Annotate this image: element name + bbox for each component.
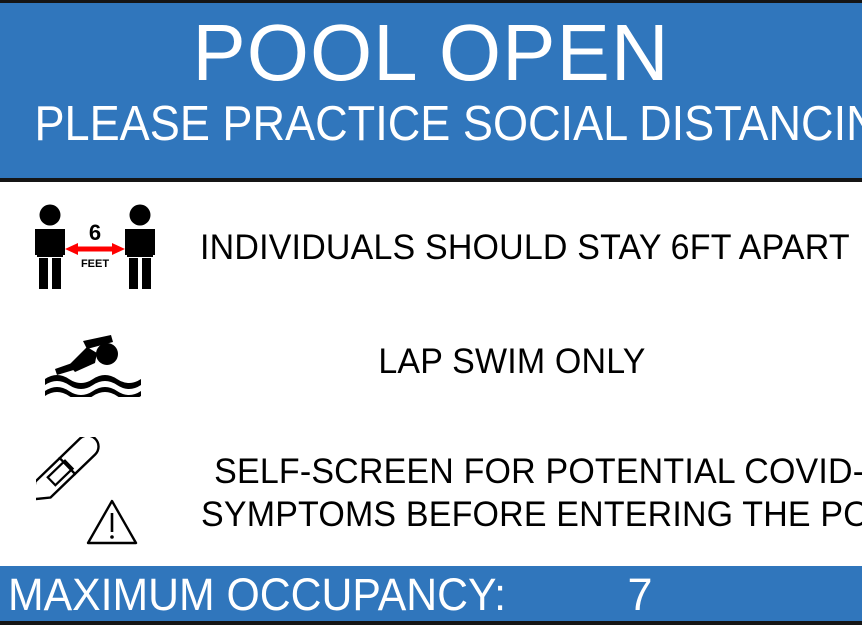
page-title: POOL OPEN <box>0 3 862 96</box>
rule-text-distancing: INDIVIDUALS SHOULD STAY 6FT APART <box>190 226 862 269</box>
rule-text-selfscreen: SELF-SCREEN FOR POTENTIAL COVID-19 SYMPT… <box>190 450 862 536</box>
sign-footer: MAXIMUM OCCUPANCY: 7 <box>0 566 862 624</box>
pool-open-sign: POOL OPEN PLEASE PRACTICE SOCIAL DISTANC… <box>0 0 862 625</box>
thermometer-warning-icon <box>0 437 190 549</box>
rules-list: 6 FEET INDIVIDUALS SHOULD STAY 6FT APART <box>0 186 862 566</box>
page-subtitle: PLEASE PRACTICE SOCIAL DISTANCING <box>34 96 827 150</box>
rule-line-1: SELF-SCREEN FOR POTENTIAL COVID-19 <box>201 450 862 493</box>
max-occupancy-label: MAXIMUM OCCUPANCY: <box>8 569 506 621</box>
list-item: LAP SWIM ONLY <box>0 316 862 406</box>
list-item: 6 FEET INDIVIDUALS SHOULD STAY 6FT APART <box>0 197 862 297</box>
max-occupancy-value: 7 <box>610 569 670 621</box>
rule-line-1: LAP SWIM ONLY <box>200 340 825 383</box>
rule-line-2: SYMPTOMS BEFORE ENTERING THE POOL <box>201 493 862 536</box>
rule-line-1: INDIVIDUALS SHOULD STAY 6FT APART <box>200 226 850 269</box>
distance-unit-label: FEET <box>81 258 109 270</box>
lap-swimmer-icon <box>0 325 190 397</box>
sign-header: POOL OPEN PLEASE PRACTICE SOCIAL DISTANC… <box>0 3 862 182</box>
social-distancing-icon: 6 FEET <box>0 202 190 292</box>
rule-text-lapswim: LAP SWIM ONLY <box>190 340 862 383</box>
distance-number-label: 6 <box>89 220 101 245</box>
list-item: SELF-SCREEN FOR POTENTIAL COVID-19 SYMPT… <box>0 434 862 552</box>
